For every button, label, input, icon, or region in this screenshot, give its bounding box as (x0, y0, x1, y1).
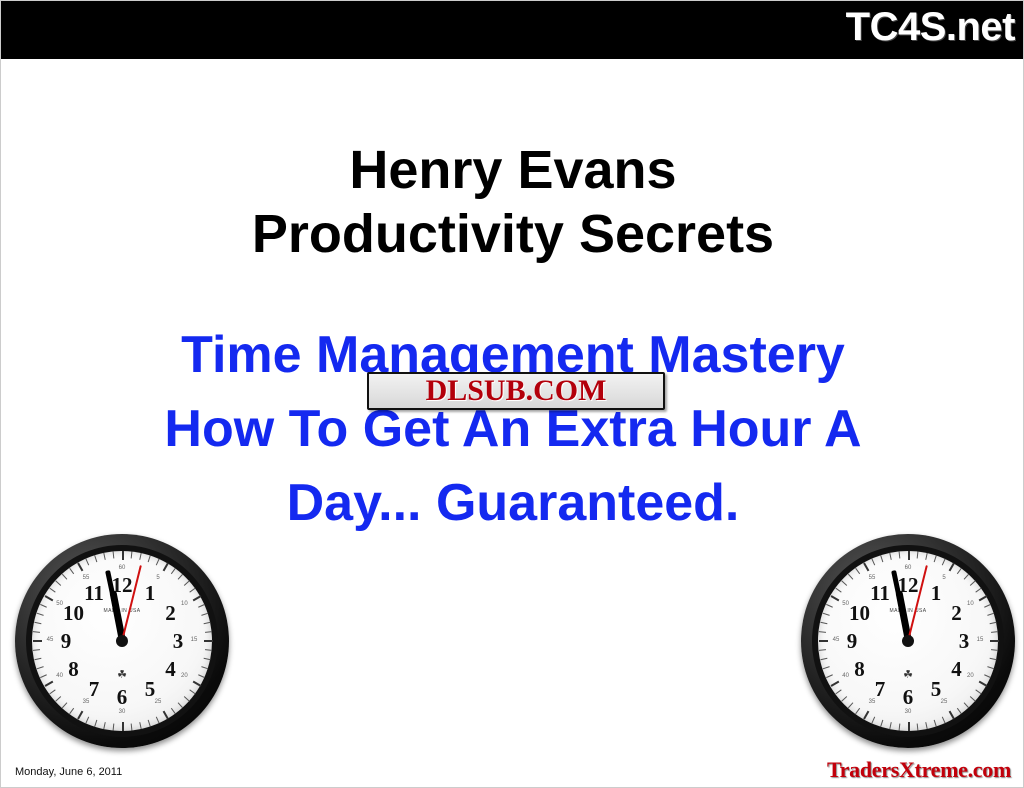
clock-numeral: 1 (923, 582, 949, 604)
clock-numeral: 4 (943, 658, 969, 680)
clock-minute-label: 5 (152, 575, 164, 581)
watermark-text: DLSUB.COM (426, 374, 607, 408)
clock-tick (898, 551, 900, 558)
clock-numeral: 11 (81, 582, 107, 604)
clock-numeral: 8 (847, 658, 873, 680)
clock-brand-sub: MADE IN USA (868, 608, 948, 614)
clock-tick (916, 723, 918, 730)
clock-tick (908, 551, 910, 560)
wall-clock-right: 60510152025303540455055121234567891011 M… (801, 534, 1015, 748)
clock-numeral: 8 (61, 658, 87, 680)
clock-tick (122, 551, 124, 560)
clock-numeral: 5 (137, 678, 163, 700)
subtitle-line-3: Day... Guaranteed. (1, 467, 1024, 541)
clock-brand-glyph: ☘ (888, 670, 928, 680)
clock-numeral: 11 (867, 582, 893, 604)
clock-tick (908, 722, 910, 731)
watermark-badge: DLSUB.COM (367, 372, 665, 410)
clock-numeral: 4 (157, 658, 183, 680)
footer-date: Monday, June 6, 2011 (15, 766, 122, 778)
top-banner: TC4S.net (1, 1, 1024, 59)
clock-numeral: 1 (137, 582, 163, 604)
clock-minute-label: 30 (116, 709, 128, 715)
clock-tick (112, 551, 114, 558)
clock-numeral: 3 (951, 630, 977, 652)
clock-tick (819, 640, 828, 642)
clock-brand-sub: MADE IN USA (82, 608, 162, 614)
footer-brand: TradersXtreme.com (827, 757, 1011, 783)
clock-numeral: 7 (81, 678, 107, 700)
page-title: Henry Evans Productivity Secrets (1, 139, 1024, 266)
clock-brand-glyph: ☘ (102, 670, 142, 680)
clock-minute-label: 5 (938, 575, 950, 581)
clock-numeral: 6 (109, 686, 135, 708)
clock-minute-label: 55 (80, 575, 92, 581)
clock-numeral: 6 (895, 686, 921, 708)
clock-minute-label: 30 (902, 709, 914, 715)
wall-clock-left: 60510152025303540455055121234567891011 M… (15, 534, 229, 748)
clock-tick (122, 722, 124, 731)
title-line-2: Productivity Secrets (1, 203, 1024, 267)
slide: TC4S.net Henry Evans Productivity Secret… (0, 0, 1024, 788)
clock-tick (130, 723, 132, 730)
clock-tick (204, 640, 213, 642)
clock-tick (130, 551, 132, 558)
clock-numeral: 7 (867, 678, 893, 700)
clock-tick (33, 640, 42, 642)
clock-tick (898, 723, 900, 730)
page-subtitle: Time Management Mastery How To Get An Ex… (1, 319, 1024, 540)
clock-numeral: 3 (165, 630, 191, 652)
clock-numeral: 5 (923, 678, 949, 700)
site-label: TC4S.net (846, 5, 1015, 50)
clock-numeral: 9 (839, 630, 865, 652)
clock-tick (916, 551, 918, 558)
clock-brand-logo: ☘ (102, 670, 142, 680)
clock-tick (990, 640, 999, 642)
clock-tick (112, 723, 114, 730)
clock-numeral: 9 (53, 630, 79, 652)
clock-center-cap (116, 635, 128, 647)
clock-center-cap (902, 635, 914, 647)
clock-minute-label: 55 (866, 575, 878, 581)
clock-minute-label: 60 (902, 565, 914, 571)
clock-minute-label: 60 (116, 565, 128, 571)
clock-brand-logo: ☘ (888, 670, 928, 680)
title-line-1: Henry Evans (1, 139, 1024, 203)
